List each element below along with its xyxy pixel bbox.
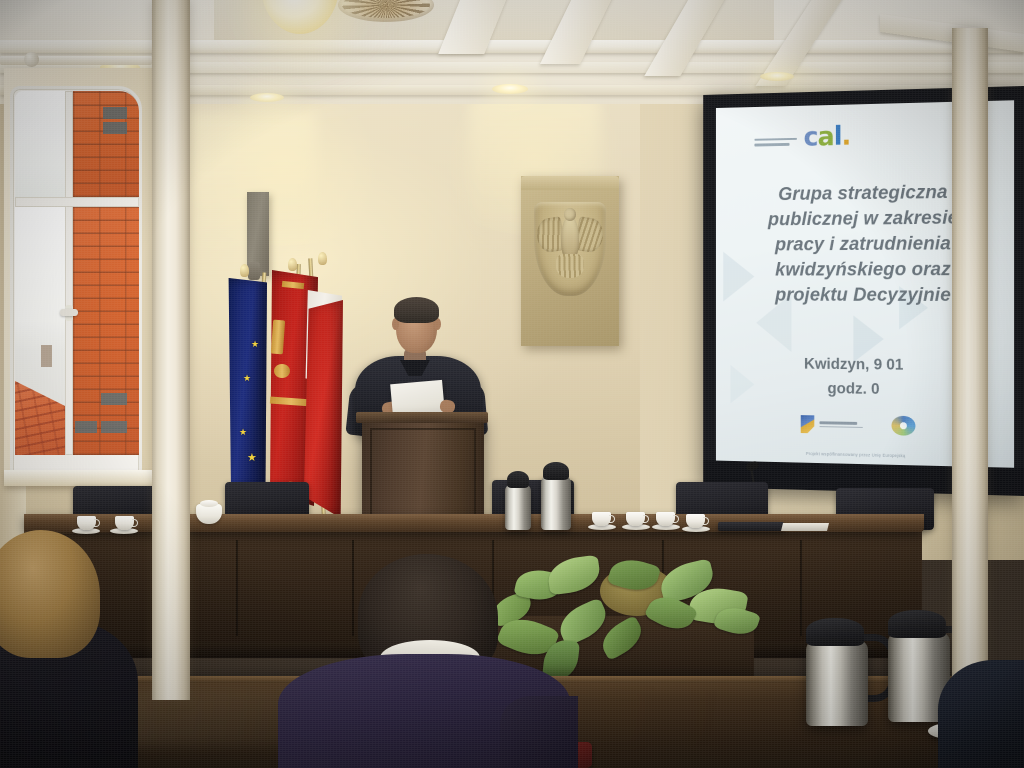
brick-accent-1 [103, 107, 127, 119]
red-tile-roof-view [15, 355, 65, 455]
brick-accent-2 [103, 122, 127, 134]
column-left [152, 0, 190, 700]
window-pane-bottom-left [15, 207, 65, 455]
brick-accent-3 [101, 393, 127, 405]
eu-star-1: ★ [251, 340, 259, 349]
kapital-ludzki-text [819, 421, 862, 428]
cup-2[interactable] [115, 516, 134, 530]
brick-accent-5 [75, 421, 97, 433]
eagle-head [564, 208, 576, 221]
cup-5[interactable] [656, 512, 675, 526]
plaque-top-bevel [521, 176, 619, 190]
kapital-ludzki-mark-icon [800, 415, 814, 434]
lectern-front-panel [370, 428, 476, 524]
thermos-front-1[interactable] [806, 640, 868, 726]
speaker-hair [394, 297, 439, 323]
efs-eu-logo-icon [891, 416, 915, 436]
cal-letter-c: c [804, 122, 818, 152]
eu-flag: ★ ★ ★ ★ [227, 278, 267, 500]
kapital-ludzki-logo [800, 415, 862, 435]
desk-panel-seam-1 [236, 540, 238, 636]
cup-4[interactable] [626, 512, 645, 526]
eu-star-3: ★ [239, 428, 247, 437]
banner-trim-2 [271, 320, 285, 355]
brick-accent-4 [101, 421, 127, 433]
eu-star-4: ★ [247, 454, 257, 463]
wall-sconce-knob [248, 262, 260, 280]
lectern-top-surface [356, 412, 488, 423]
papers-on-desk [781, 523, 829, 531]
audience-dark-hair-shoulder [500, 696, 578, 768]
desk-panel-seam-2 [352, 540, 354, 636]
curtain-rail-end-cap [24, 52, 39, 67]
thermos-back-2-cap [543, 462, 569, 480]
window-mullion-horizontal [15, 197, 139, 207]
desk-panel-seam-5 [800, 540, 802, 636]
brick-wall-view-2 [73, 207, 139, 455]
eu-star-2: ★ [243, 374, 251, 383]
thermos-front-1-cap[interactable] [806, 618, 864, 646]
cal-letter-dot: . [842, 121, 851, 151]
window-sill [4, 470, 160, 486]
downlight-2 [250, 93, 284, 102]
cal-letter-a: a [818, 122, 834, 153]
shield-icon [534, 202, 606, 296]
thermos-back-1[interactable] [505, 484, 531, 530]
cal-logo: cal. [754, 126, 850, 150]
cup-1[interactable] [77, 516, 96, 530]
window-pane-top-right [73, 91, 139, 197]
poland-flag-red-band [303, 300, 343, 518]
cup-3[interactable] [592, 512, 611, 526]
laptop-on-desk[interactable] [718, 522, 784, 531]
window-handle[interactable] [60, 309, 78, 316]
polish-eagle-coat-of-arms-plaque [521, 176, 619, 346]
thermos-front-2-cap[interactable] [888, 610, 946, 638]
cal-letter-l: l [834, 121, 842, 151]
cup-6[interactable] [686, 514, 705, 528]
curtain-rail [0, 56, 152, 65]
eagle-tail [556, 254, 584, 278]
flag-finial-1 [240, 264, 249, 277]
arched-pvc-window [10, 86, 142, 474]
column-right [952, 28, 988, 768]
banner-emblem [274, 364, 290, 378]
window-pane-top-left [15, 91, 65, 197]
thermos-back-2[interactable] [541, 476, 571, 530]
flag-finial-3 [318, 252, 327, 265]
chimney-view [41, 345, 52, 367]
window-pane-bottom-right [73, 207, 139, 455]
downlight-4 [760, 72, 794, 81]
flag-finial-2 [288, 258, 297, 271]
audience-right-body [938, 660, 1024, 768]
downlight-3 [492, 84, 528, 94]
window-mullion-vertical [65, 91, 73, 455]
cal-wordmark: cal. [804, 126, 851, 149]
cal-logo-subtext [754, 138, 797, 150]
thermos-back-1-cap [507, 471, 529, 488]
eagle-wing-right [575, 216, 605, 253]
conference-room-photo: ★ ★ ★ ★ cal. Grupa strat [0, 0, 1024, 768]
